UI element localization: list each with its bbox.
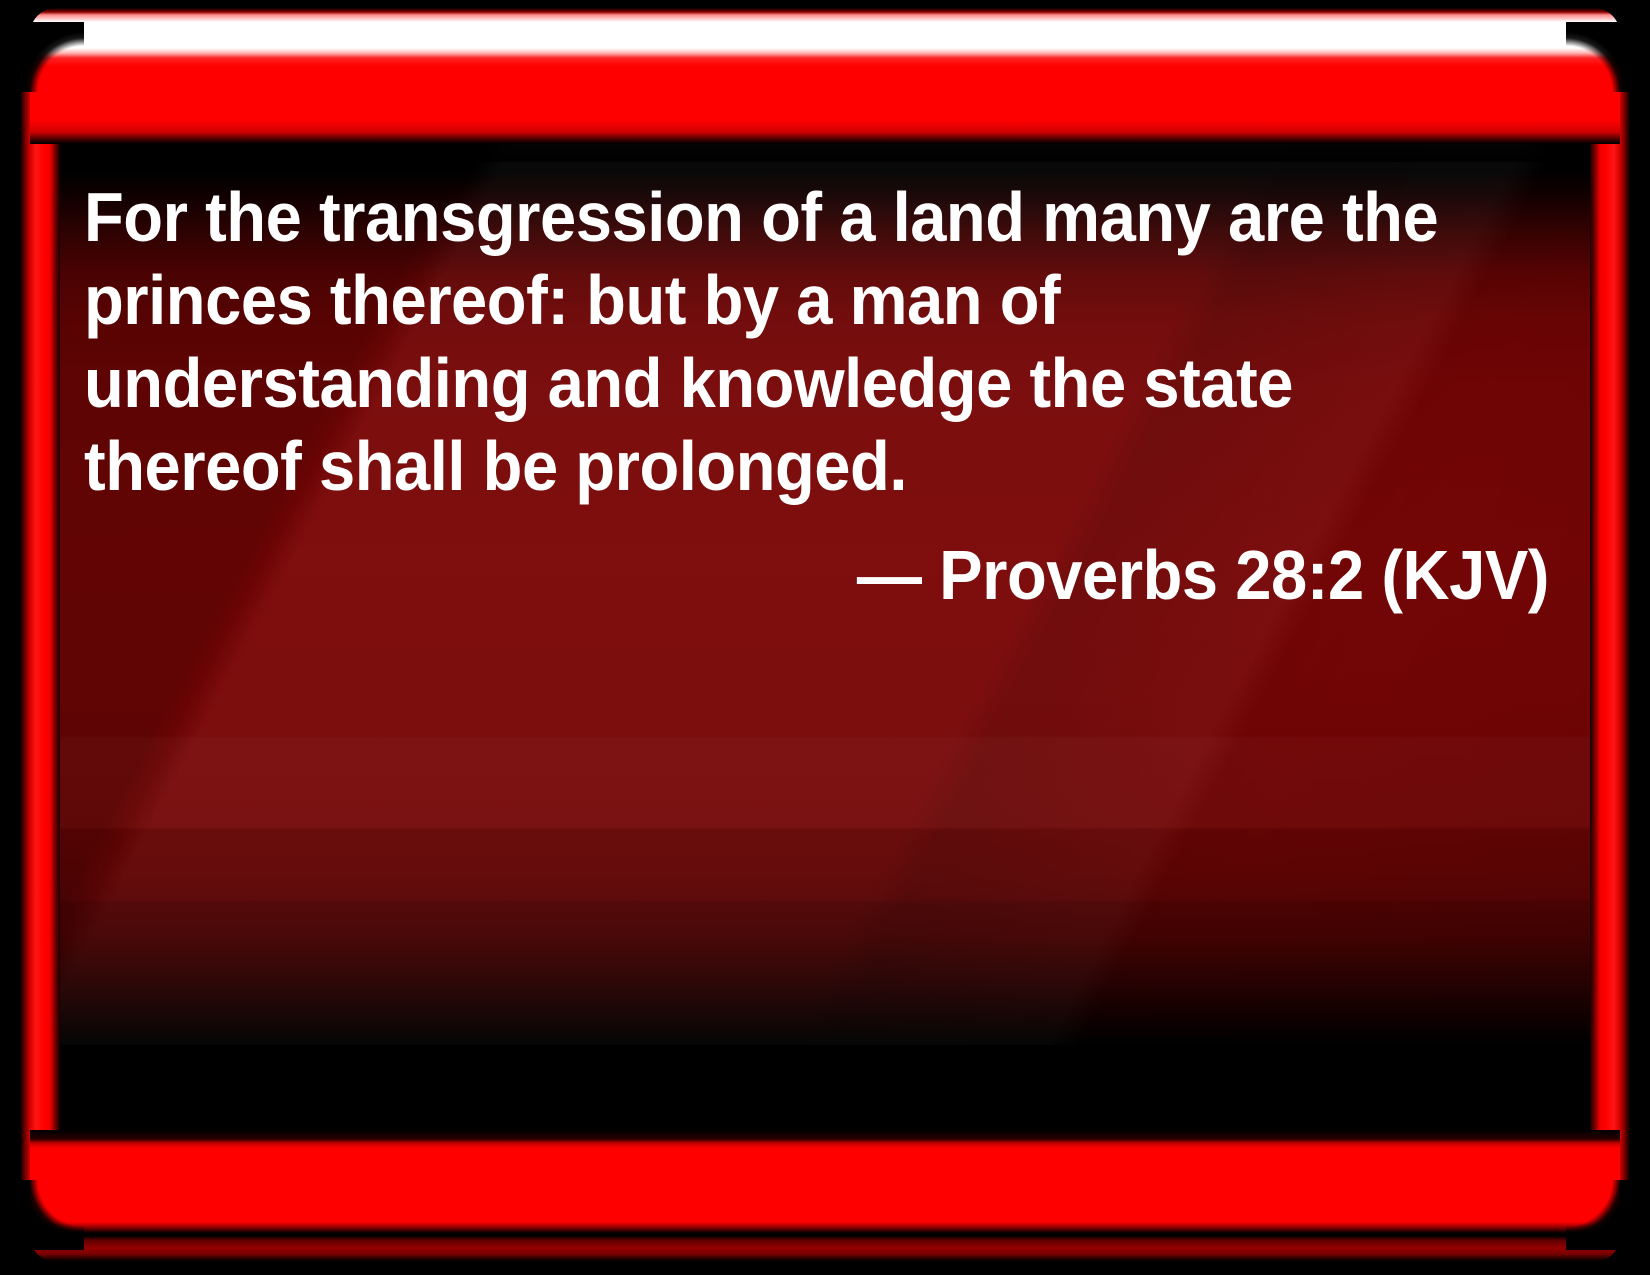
frame-left-bar bbox=[14, 40, 60, 1180]
verse-block: For the transgression of a land many are… bbox=[84, 176, 1549, 617]
frame-bottom-bar bbox=[30, 1130, 1620, 1262]
verse-body-text: For the transgression of a land many are… bbox=[84, 176, 1446, 508]
frame-right-bar bbox=[1590, 40, 1636, 1180]
verse-reference-citation: — Proverbs 28:2 (KJV) bbox=[187, 534, 1549, 617]
verse-slide: For the transgression of a land many are… bbox=[0, 0, 1650, 1275]
frame-top-bar bbox=[30, 8, 1620, 144]
